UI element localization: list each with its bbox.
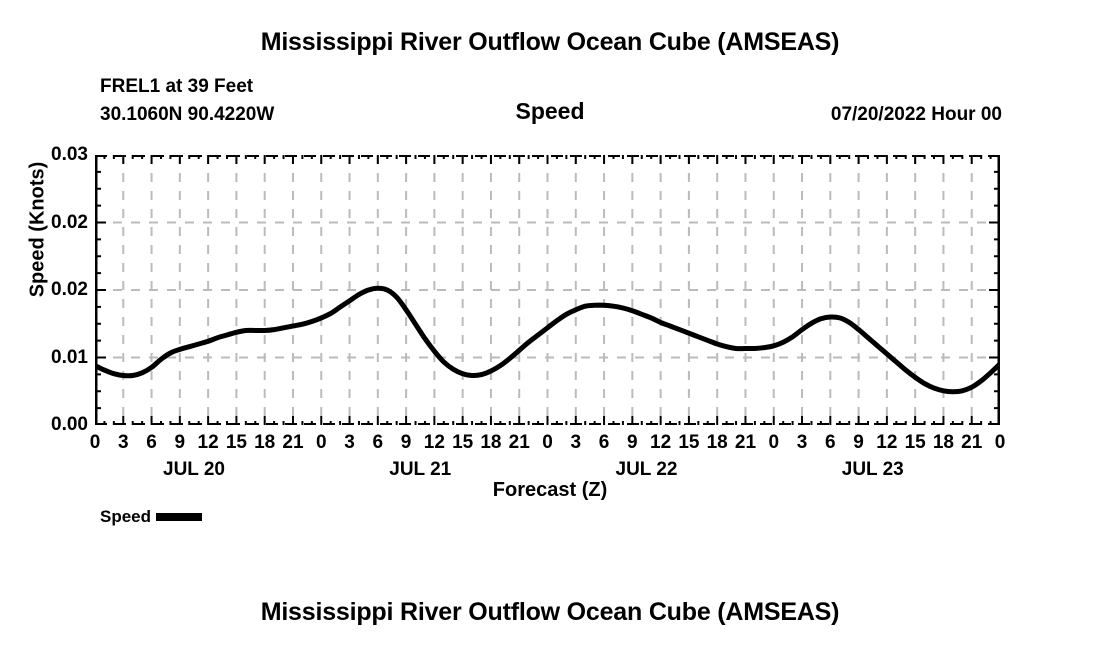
- x-tick-label: 12: [650, 432, 671, 454]
- x-tick-label: 9: [853, 432, 864, 454]
- chart-page: Mississippi River Outflow Ocean Cube (AM…: [0, 0, 1100, 650]
- x-tick-label: 18: [707, 432, 728, 454]
- page-title-top: Mississippi River Outflow Ocean Cube (AM…: [0, 28, 1100, 57]
- x-tick-label: 15: [678, 432, 699, 454]
- x-tick-label: 3: [344, 432, 355, 454]
- x-day-label: JUL 22: [616, 459, 678, 481]
- plot-area: [95, 155, 1000, 425]
- legend-swatch-speed: [156, 513, 202, 521]
- legend: Speed: [100, 507, 202, 527]
- y-tick-label: 0.02: [18, 279, 88, 301]
- y-tick-label: 0.02: [18, 212, 88, 234]
- x-tick-label: 6: [146, 432, 157, 454]
- y-tick-label: 0.00: [18, 414, 88, 436]
- x-tick-label: 9: [175, 432, 186, 454]
- page-title-bottom: Mississippi River Outflow Ocean Cube (AM…: [0, 598, 1100, 627]
- x-tick-label: 18: [933, 432, 954, 454]
- x-tick-label: 12: [424, 432, 445, 454]
- run-time-label: 07/20/2022 Hour 00: [831, 104, 1002, 126]
- x-tick-label: 3: [797, 432, 808, 454]
- speed-line-chart: [95, 155, 1000, 425]
- x-day-label: JUL 23: [842, 459, 904, 481]
- x-tick-label: 15: [226, 432, 247, 454]
- y-tick-label: 0.01: [18, 347, 88, 369]
- x-tick-label: 15: [905, 432, 926, 454]
- x-tick-label: 21: [961, 432, 982, 454]
- x-day-label: JUL 20: [163, 459, 225, 481]
- station-label: FREL1 at 39 Feet: [100, 76, 253, 98]
- x-tick-label: 15: [452, 432, 473, 454]
- x-tick-label: 18: [480, 432, 501, 454]
- x-tick-label: 3: [570, 432, 581, 454]
- x-tick-label: 3: [118, 432, 129, 454]
- x-tick-label: 9: [401, 432, 412, 454]
- x-day-label: JUL 21: [389, 459, 451, 481]
- x-tick-label: 12: [198, 432, 219, 454]
- x-tick-label: 12: [876, 432, 897, 454]
- x-tick-label: 0: [768, 432, 779, 454]
- x-tick-label: 0: [542, 432, 553, 454]
- x-tick-label: 9: [627, 432, 638, 454]
- x-tick-label: 21: [509, 432, 530, 454]
- x-tick-label: 21: [282, 432, 303, 454]
- x-axis-label: Forecast (Z): [0, 479, 1100, 502]
- x-tick-label: 0: [90, 432, 101, 454]
- y-tick-label: 0.03: [18, 144, 88, 166]
- legend-label-speed: Speed: [100, 507, 151, 527]
- x-tick-label: 6: [599, 432, 610, 454]
- x-tick-label: 6: [825, 432, 836, 454]
- x-tick-label: 6: [373, 432, 384, 454]
- x-tick-label: 18: [254, 432, 275, 454]
- x-tick-label: 0: [995, 432, 1006, 454]
- x-tick-label: 0: [316, 432, 327, 454]
- x-tick-label: 21: [735, 432, 756, 454]
